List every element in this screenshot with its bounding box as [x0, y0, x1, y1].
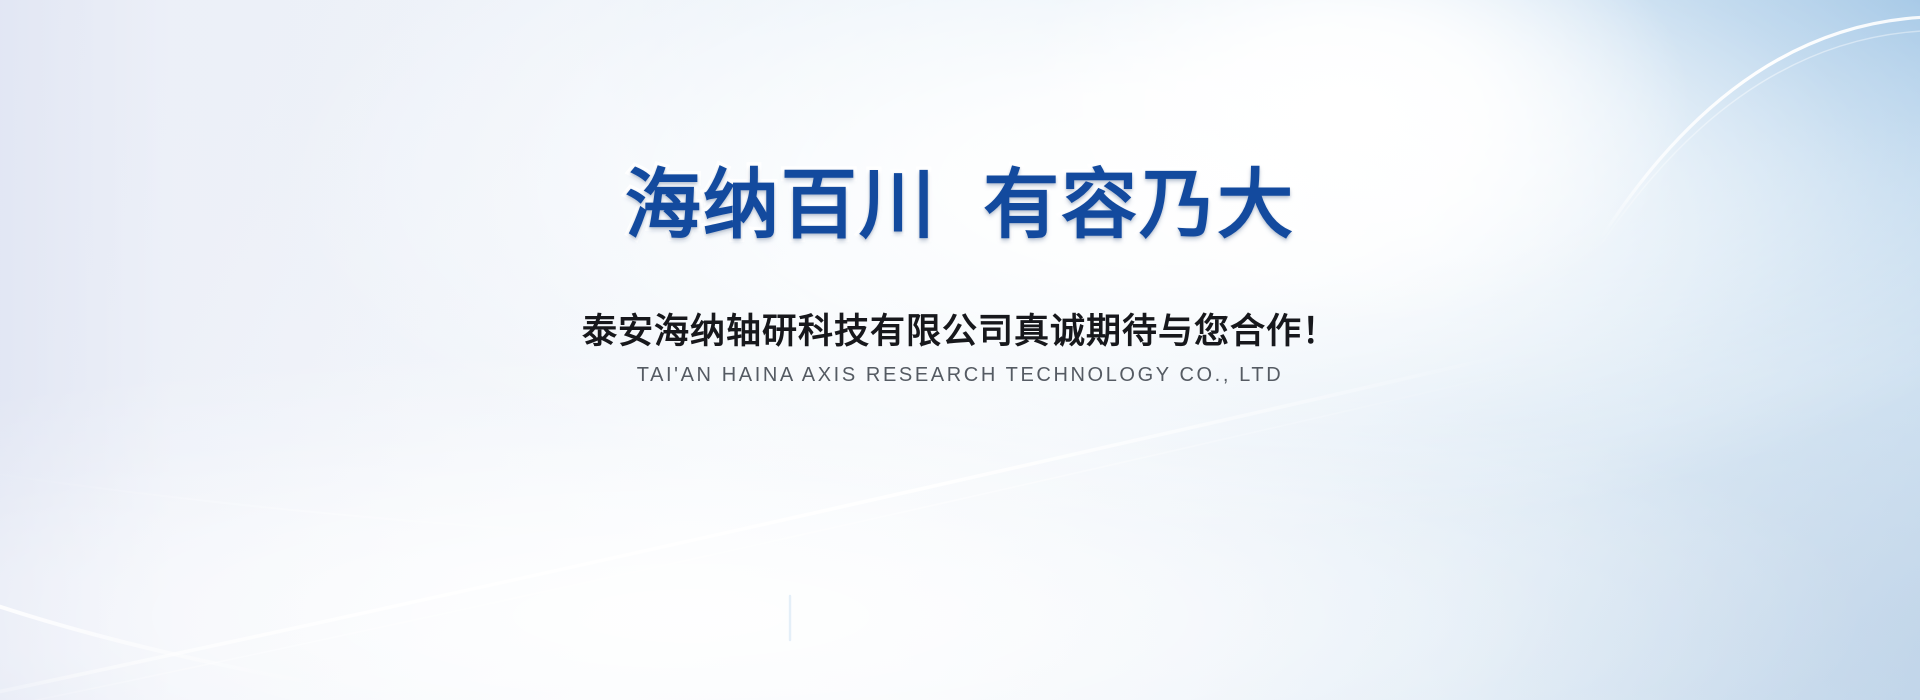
- arc-bottom-center-echo: [0, 366, 1540, 700]
- banner-subtitle-chinese: 泰安海纳轴研科技有限公司真诚期待与您合作！: [0, 310, 1920, 354]
- banner-headline: 海纳百川 有容乃大: [0, 168, 1920, 244]
- background-center-glow: [0, 0, 1920, 700]
- banner-subtitle-english: TAI'AN HAINA AXIS RESEARCH TECHNOLOGY CO…: [0, 362, 1920, 388]
- arc-bottom-center: [0, 352, 1520, 700]
- background-arc-decorations: [0, 0, 1920, 700]
- arc-mid-left-faint: [0, 470, 700, 540]
- arc-bottom-left: [0, 600, 330, 686]
- banner-content: 海纳百川 有容乃大 泰安海纳轴研科技有限公司真诚期待与您合作！ TAI'AN H…: [0, 0, 1920, 700]
- background-top-right-blue: [0, 0, 1920, 700]
- background-glow-core: [0, 0, 1920, 700]
- arc-top-right-echo: [1596, 30, 1920, 252]
- background-lower-light-lift: [0, 0, 1920, 700]
- background-left-tint: [0, 0, 1920, 700]
- hero-banner: 海纳百川 有容乃大 泰安海纳轴研科技有限公司真诚期待与您合作！ TAI'AN H…: [0, 0, 1920, 700]
- arc-top-right: [1600, 17, 1920, 240]
- background-bottom-right-tint: [0, 0, 1920, 700]
